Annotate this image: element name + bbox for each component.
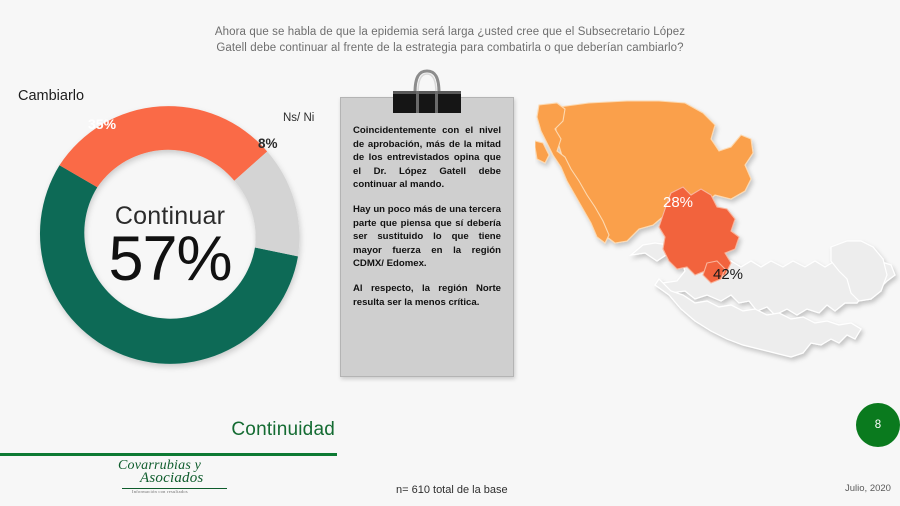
company-logo: Covarrubias y Asociados Información con … bbox=[118, 458, 233, 498]
map-region-baja-lower bbox=[535, 141, 549, 163]
slide-root: Ahora que se habla de que la epidemia se… bbox=[0, 0, 900, 506]
page-title: Ahora que se habla de que la epidemia se… bbox=[200, 24, 700, 56]
mexico-map-icon bbox=[535, 95, 900, 380]
donut-chart: Continuar 57% bbox=[20, 80, 320, 380]
note-paragraph-2: Hay un poco más de una tercera parte que… bbox=[353, 203, 501, 271]
map-value-norte: 28% bbox=[663, 194, 693, 211]
insight-note-panel: Coincidentemente con el nivel de aprobac… bbox=[340, 97, 514, 377]
base-note: n= 610 total de la base bbox=[396, 484, 508, 496]
logo-line-2: Asociados bbox=[140, 470, 203, 487]
section-title: Continuidad bbox=[0, 419, 335, 441]
donut-label-nsni: Ns/ Ni bbox=[283, 112, 314, 124]
donut-value-cambiarlo: 35% bbox=[88, 116, 116, 132]
question-line-2: Gatell debe continuar al frente de la es… bbox=[200, 40, 700, 56]
donut-label-cambiarlo: Cambiarlo bbox=[18, 88, 84, 104]
question-line-1: Ahora que se habla de que la epidemia se… bbox=[200, 24, 700, 40]
note-paragraph-3: Al respecto, la región Norte resulta ser… bbox=[353, 282, 501, 309]
mexico-map bbox=[535, 95, 900, 380]
slide-date: Julio, 2020 bbox=[845, 483, 891, 494]
donut-value-nsni: 8% bbox=[258, 136, 278, 151]
donut-center-value: 57% bbox=[20, 223, 320, 295]
map-value-cdmx-edomex: 42% bbox=[713, 266, 743, 283]
footer-divider bbox=[0, 453, 337, 456]
binder-clip-icon bbox=[389, 67, 465, 113]
note-paragraph-1: Coincidentemente con el nivel de aprobac… bbox=[353, 124, 501, 192]
page-number: 8 bbox=[856, 403, 900, 447]
logo-tagline: Información con resultados bbox=[132, 489, 188, 494]
